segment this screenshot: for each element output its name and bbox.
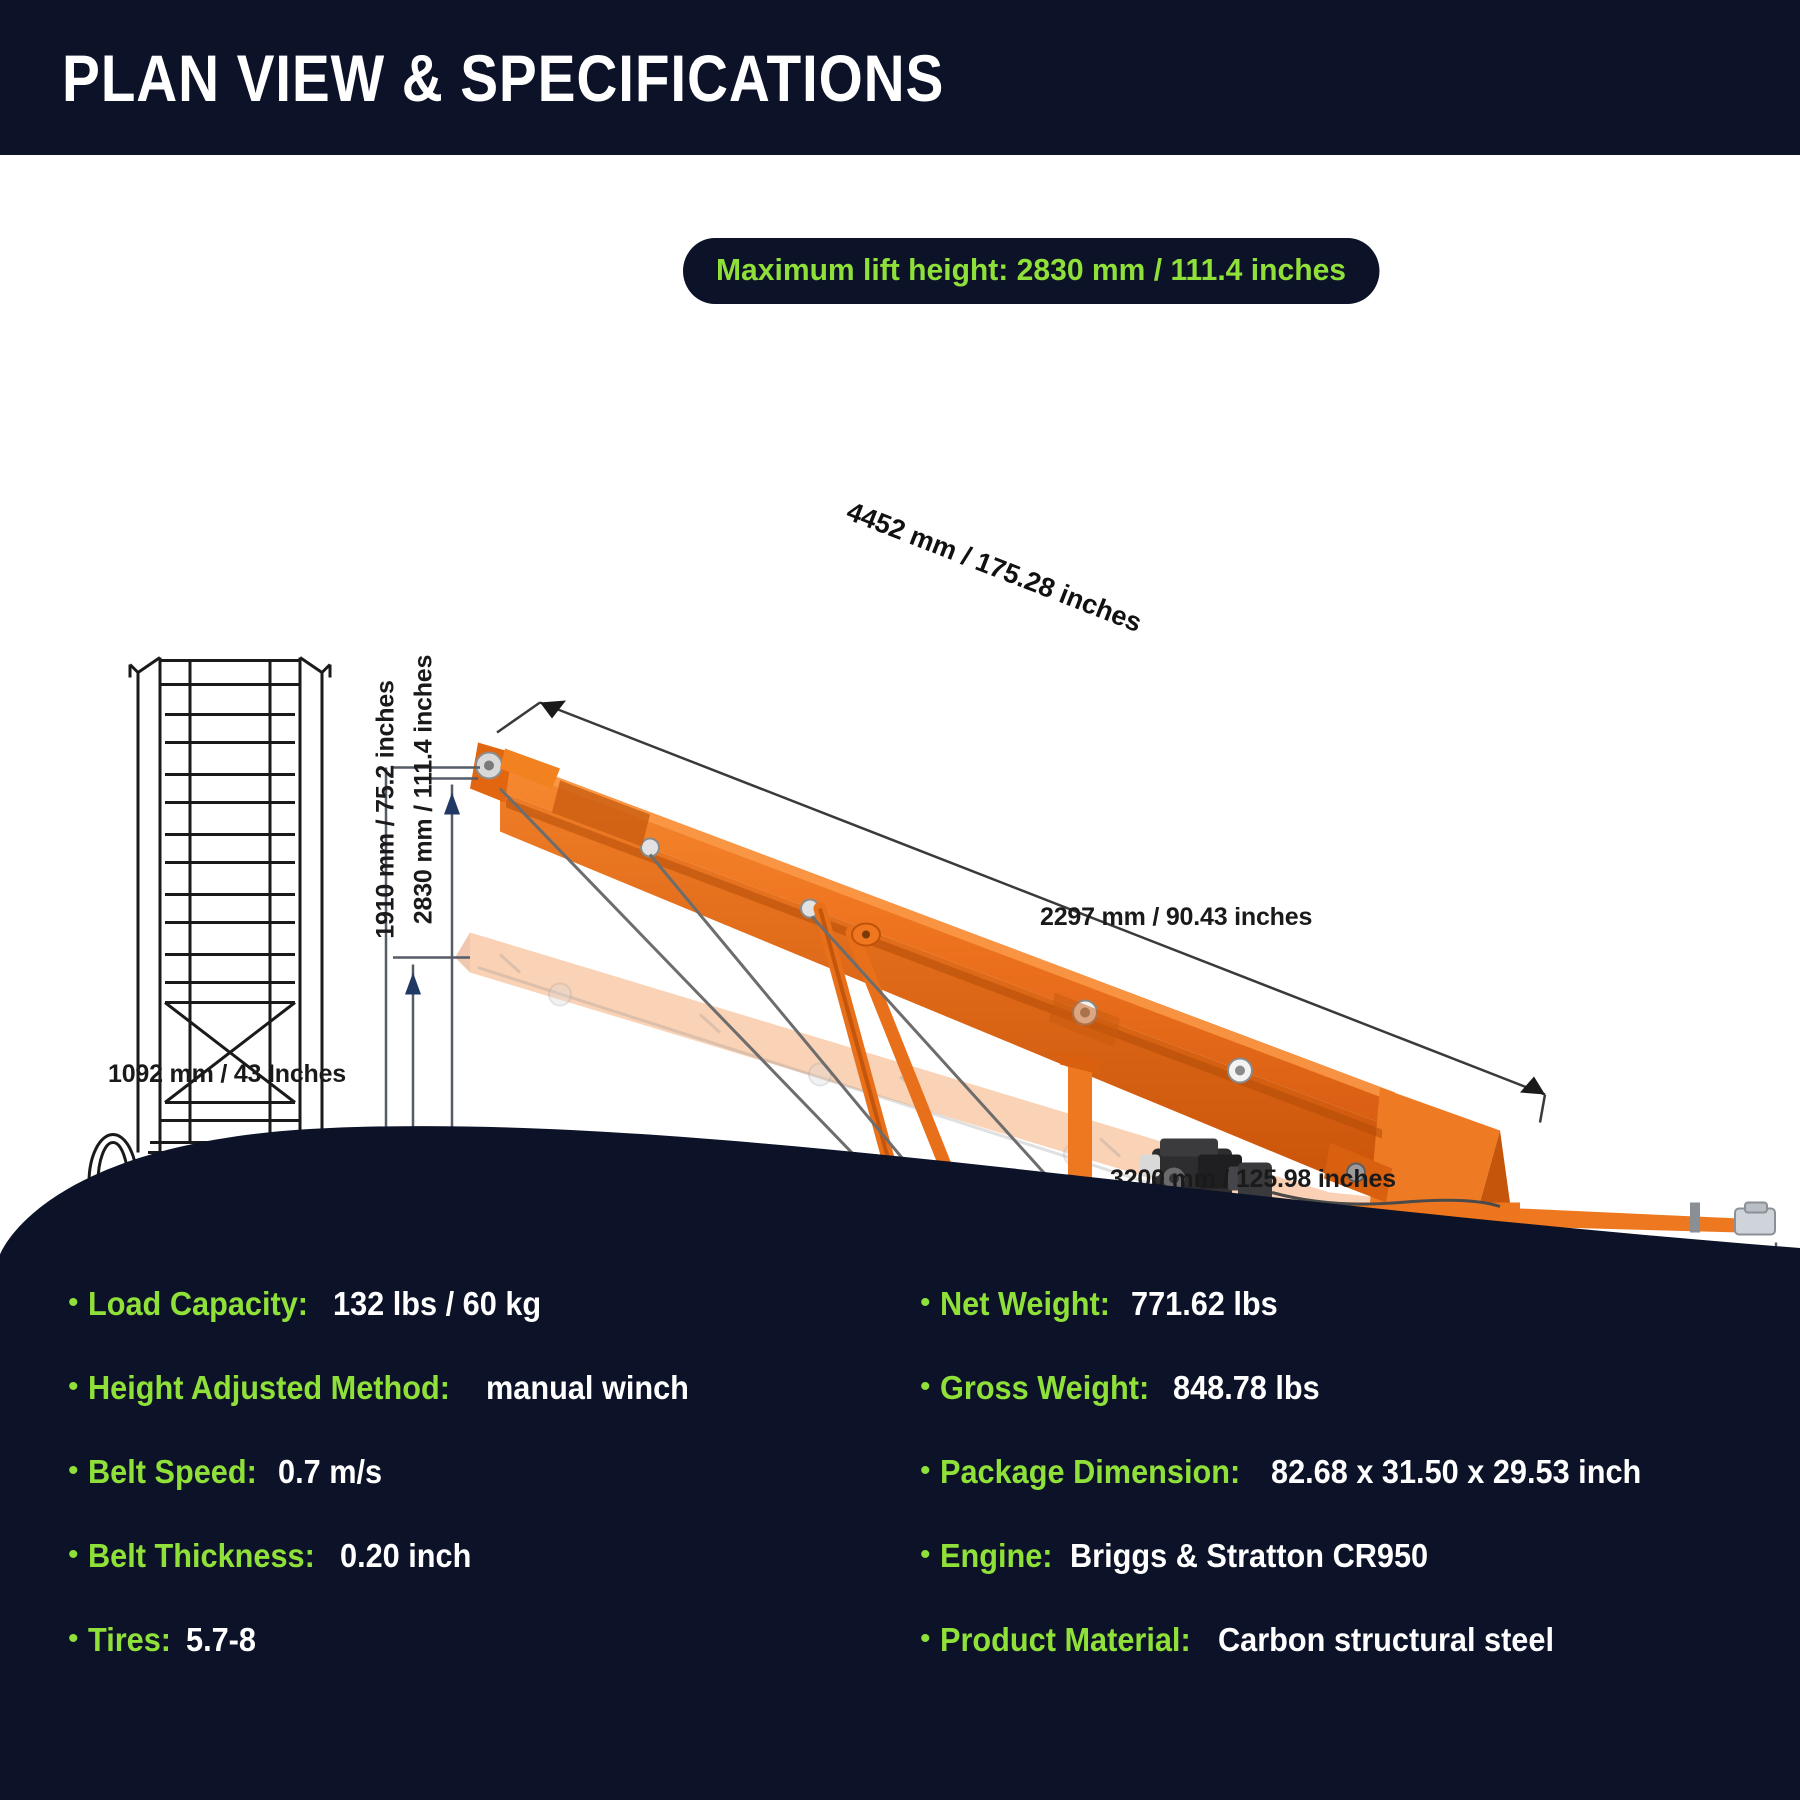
list-item: • Tires: 5.7-8 xyxy=(68,1621,900,1659)
spec-label: Height Adjusted Method: xyxy=(88,1369,450,1407)
list-item: • Engine: Briggs & Stratton CR950 xyxy=(920,1537,1800,1575)
infographic-page: PLAN VIEW & SPECIFICATIONS xyxy=(0,0,1800,1800)
spec-label: Tires: xyxy=(88,1621,171,1659)
list-item: • Product Material: Carbon structural st… xyxy=(920,1621,1800,1659)
page-title: PLAN VIEW & SPECIFICATIONS xyxy=(62,40,944,116)
spec-value: 0.7 m/s xyxy=(278,1453,382,1491)
dim-label-max-lift-height: 2830 mm / 111.4 inches xyxy=(410,655,439,924)
specifications-section: • Load Capacity: 132 lbs / 60 kg • Heigh… xyxy=(0,1255,1800,1800)
spec-value: Briggs & Stratton CR950 xyxy=(1070,1537,1428,1575)
bullet-icon: • xyxy=(68,1624,79,1654)
spec-value: 132 lbs / 60 kg xyxy=(333,1285,541,1323)
bullet-icon: • xyxy=(920,1288,931,1318)
spec-label: Net Weight: xyxy=(940,1285,1110,1323)
header-bar: PLAN VIEW & SPECIFICATIONS xyxy=(0,0,1800,155)
dim-label-overall-length: 3200 mm / 125.98 inches xyxy=(1110,1165,1396,1194)
specs-right-column: • Net Weight: 771.62 lbs • Gross Weight:… xyxy=(900,1255,1800,1800)
spec-value: 5.7-8 xyxy=(186,1621,256,1659)
bullet-icon: • xyxy=(68,1540,79,1570)
dim-label-lowered-height: 1910 mm / 75.2 inches xyxy=(372,680,401,938)
bullet-icon: • xyxy=(68,1456,79,1486)
spec-label: Belt Thickness: xyxy=(88,1537,315,1575)
spec-value: 771.62 lbs xyxy=(1131,1285,1278,1323)
bullet-icon: • xyxy=(920,1624,931,1654)
spec-label: Gross Weight: xyxy=(940,1369,1149,1407)
spec-label: Load Capacity: xyxy=(88,1285,308,1323)
spec-value: 848.78 lbs xyxy=(1173,1369,1320,1407)
bullet-icon: • xyxy=(68,1372,79,1402)
spec-label: Belt Speed: xyxy=(88,1453,257,1491)
spec-value: Carbon structural steel xyxy=(1218,1621,1554,1659)
diagram-stage: 1092 mm / 43 Inches 2830 mm / 111.4 inch… xyxy=(0,155,1800,1260)
bullet-icon: • xyxy=(920,1372,931,1402)
spec-value: 0.20 inch xyxy=(340,1537,471,1575)
list-item: • Package Dimension: 82.68 x 31.50 x 29.… xyxy=(920,1453,1800,1491)
bullet-icon: • xyxy=(920,1456,931,1486)
dim-label-wheelbase-to-tip: 2297 mm / 90.43 inches xyxy=(1040,903,1312,932)
list-item: • Load Capacity: 132 lbs / 60 kg xyxy=(68,1285,900,1323)
spec-value: 82.68 x 31.50 x 29.53 inch xyxy=(1271,1453,1641,1491)
bullet-icon: • xyxy=(920,1540,931,1570)
list-item: • Height Adjusted Method: manual winch xyxy=(68,1369,900,1407)
dim-label-track-width: 1092 mm / 43 Inches xyxy=(108,1060,346,1089)
spec-label: Package Dimension: xyxy=(940,1453,1240,1491)
max-lift-height-badge: Maximum lift height: 2830 mm / 111.4 inc… xyxy=(683,238,1379,304)
bullet-icon: • xyxy=(68,1288,79,1318)
list-item: • Net Weight: 771.62 lbs xyxy=(920,1285,1800,1323)
list-item: • Belt Thickness: 0.20 inch xyxy=(68,1537,900,1575)
dimension-annotations xyxy=(0,155,1800,1260)
specs-left-column: • Load Capacity: 132 lbs / 60 kg • Heigh… xyxy=(0,1255,900,1800)
spec-value: manual winch xyxy=(486,1369,689,1407)
spec-label: Engine: xyxy=(940,1537,1053,1575)
list-item: • Gross Weight: 848.78 lbs xyxy=(920,1369,1800,1407)
list-item: • Belt Speed: 0.7 m/s xyxy=(68,1453,900,1491)
spec-label: Product Material: xyxy=(940,1621,1191,1659)
